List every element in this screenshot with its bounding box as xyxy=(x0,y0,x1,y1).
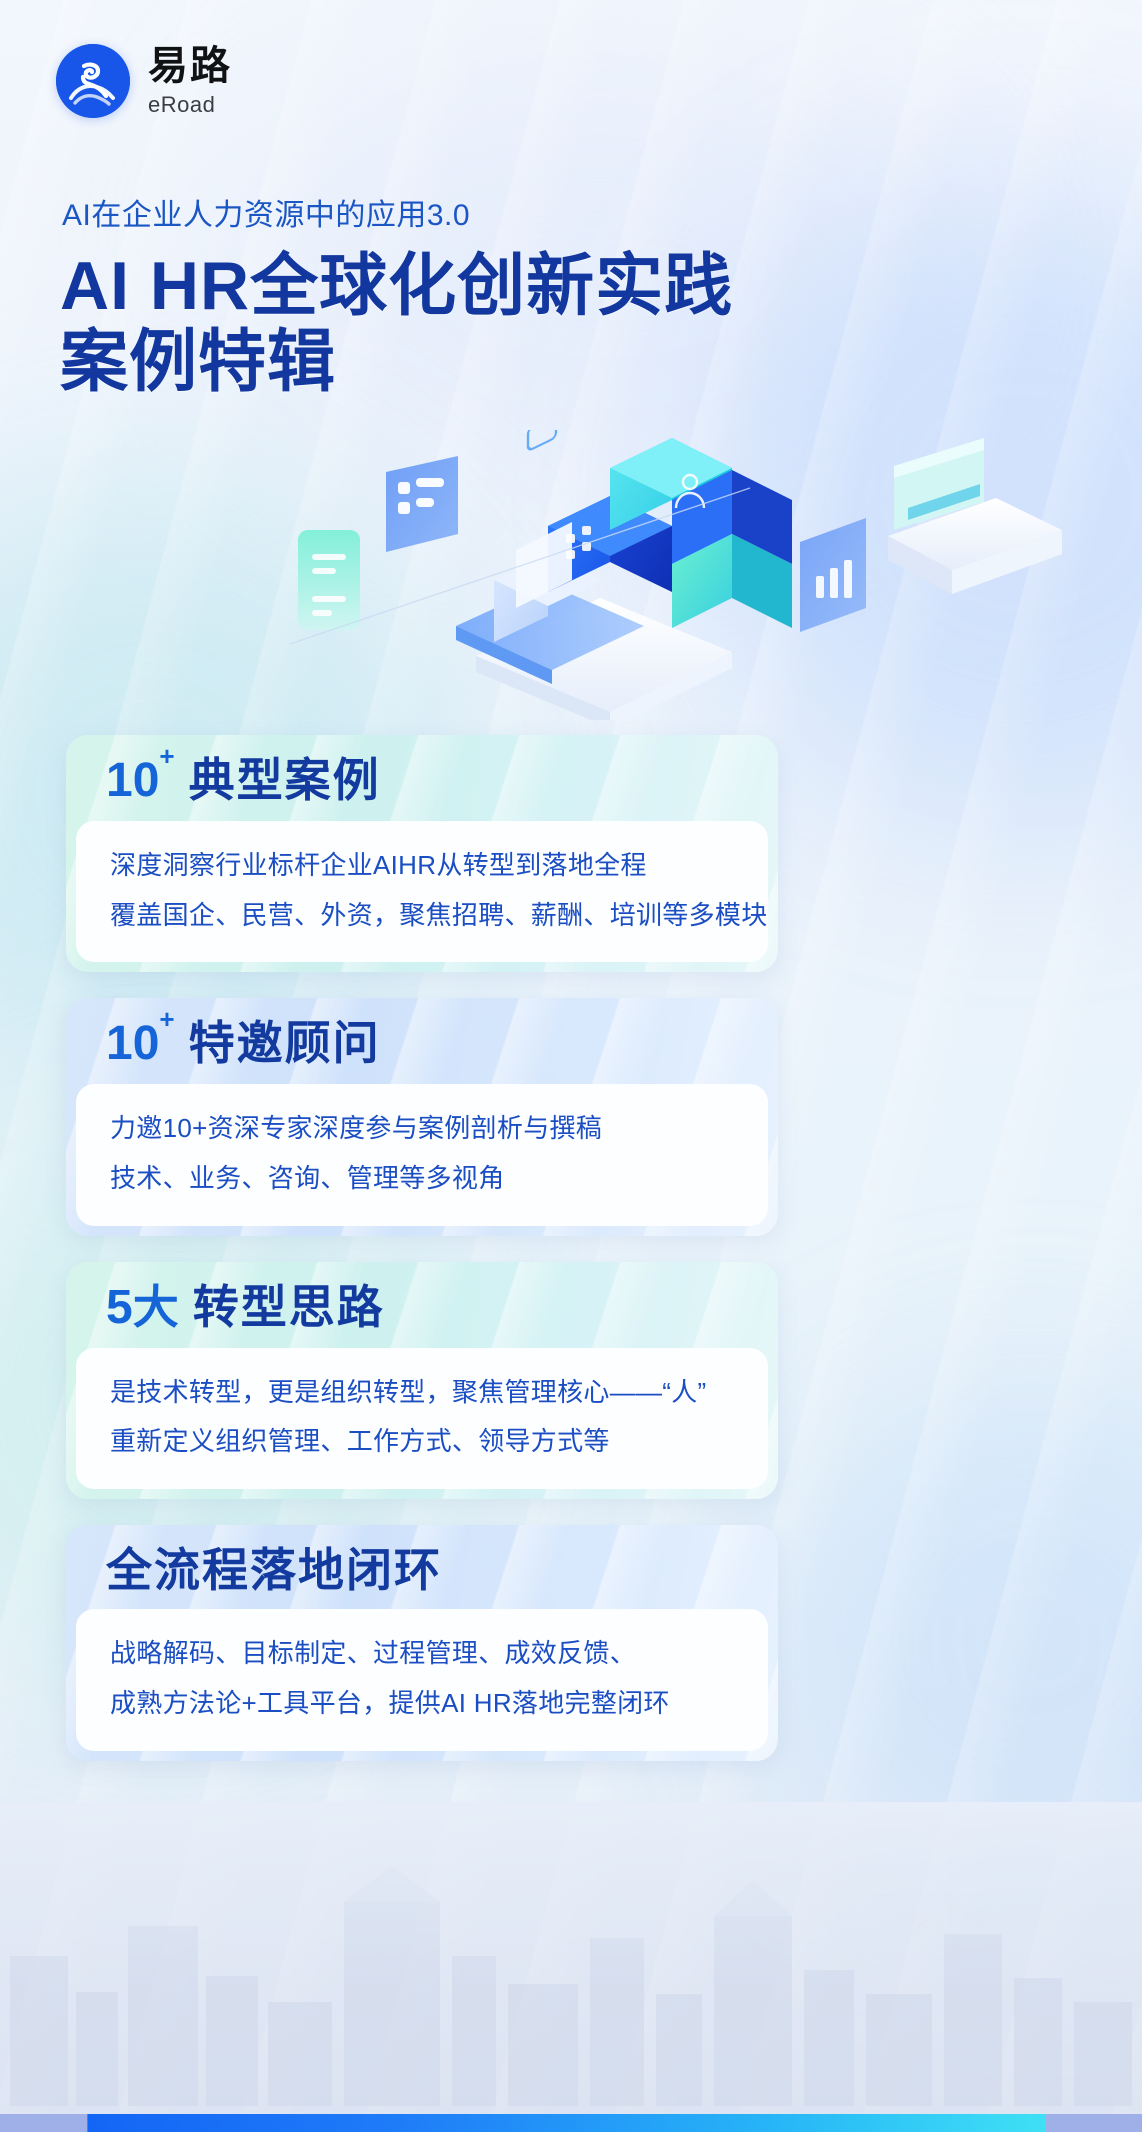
card-body-line: 技术、业务、咨询、管理等多视角 xyxy=(110,1160,734,1198)
bottom-accent-bar xyxy=(0,2114,1142,2132)
feature-card: 10+ 特邀顾问 力邀10+资深专家深度参与案例剖析与撰稿 技术、业务、咨询、管… xyxy=(66,998,778,1235)
bg-glow-lower-right xyxy=(772,1380,1142,1900)
feature-card: 10+ 典型案例 深度洞察行业标杆企业AIHR从转型到落地全程 覆盖国企、民营、… xyxy=(66,735,778,972)
brand-name-en: eRoad xyxy=(148,94,232,116)
brand-logo: 易路 eRoad xyxy=(56,44,232,118)
card-title: 典型案例 xyxy=(189,757,381,803)
card-body: 战略解码、目标制定、过程管理、成效反馈、 成熟方法论+工具平台，提供AI HR落… xyxy=(76,1609,768,1750)
card-number: 10+ xyxy=(106,757,175,805)
card-body-line: 成熟方法论+工具平台，提供AI HR落地完整闭环 xyxy=(110,1685,734,1723)
feature-card-list: 10+ 典型案例 深度洞察行业标杆企业AIHR从转型到落地全程 覆盖国企、民营、… xyxy=(66,735,778,1787)
card-body-line: 是技术转型，更是组织转型，聚焦管理核心——“人” xyxy=(110,1374,734,1412)
poster-title: AI HR全球化创新实践 案例特辑 xyxy=(60,248,1060,400)
feature-card: 全流程落地闭环 战略解码、目标制定、过程管理、成效反馈、 成熟方法论+工具平台，… xyxy=(66,1525,778,1760)
poster-root: 易路 eRoad AI在企业人力资源中的应用3.0 AI HR全球化创新实践 案… xyxy=(0,0,1142,2132)
poster-subtitle: AI在企业人力资源中的应用3.0 xyxy=(62,190,470,234)
eroad-wave-logo-icon xyxy=(56,44,130,118)
title-line-2: 案例特辑 xyxy=(60,324,1060,400)
title-line-1: AI HR全球化创新实践 xyxy=(60,248,1060,324)
card-body-line: 战略解码、目标制定、过程管理、成效反馈、 xyxy=(110,1635,734,1673)
card-title: 全流程落地闭环 xyxy=(106,1547,442,1593)
card-header: 10+ 特邀顾问 xyxy=(66,998,778,1084)
card-header: 5大 转型思路 xyxy=(66,1262,778,1348)
hero-illustration xyxy=(280,430,1100,720)
card-body-line: 深度洞察行业标杆企业AIHR从转型到落地全程 xyxy=(110,847,734,885)
card-body: 深度洞察行业标杆企业AIHR从转型到落地全程 覆盖国企、民营、外资，聚焦招聘、薪… xyxy=(76,821,768,962)
feature-card: 5大 转型思路 是技术转型，更是组织转型，聚焦管理核心——“人” 重新定义组织管… xyxy=(66,1262,778,1499)
card-number: 5大 xyxy=(106,1284,179,1332)
card-number: 10+ xyxy=(106,1020,175,1068)
cityscape-backdrop xyxy=(0,1802,1142,2132)
card-body-line: 覆盖国企、民营、外资，聚焦招聘、薪酬、培训等多模块 xyxy=(110,897,734,935)
card-body-line: 重新定义组织管理、工作方式、领导方式等 xyxy=(110,1423,734,1461)
card-body-line: 力邀10+资深专家深度参与案例剖析与撰稿 xyxy=(110,1110,734,1148)
card-body: 是技术转型，更是组织转型，聚焦管理核心——“人” 重新定义组织管理、工作方式、领… xyxy=(76,1348,768,1489)
card-body: 力邀10+资深专家深度参与案例剖析与撰稿 技术、业务、咨询、管理等多视角 xyxy=(76,1084,768,1225)
brand-name-cn: 易路 xyxy=(148,46,232,86)
card-title: 转型思路 xyxy=(193,1284,385,1330)
card-title: 特邀顾问 xyxy=(189,1020,381,1066)
card-header: 全流程落地闭环 xyxy=(66,1525,778,1609)
cityscape-veil xyxy=(0,1802,1142,2132)
card-header: 10+ 典型案例 xyxy=(66,735,778,821)
